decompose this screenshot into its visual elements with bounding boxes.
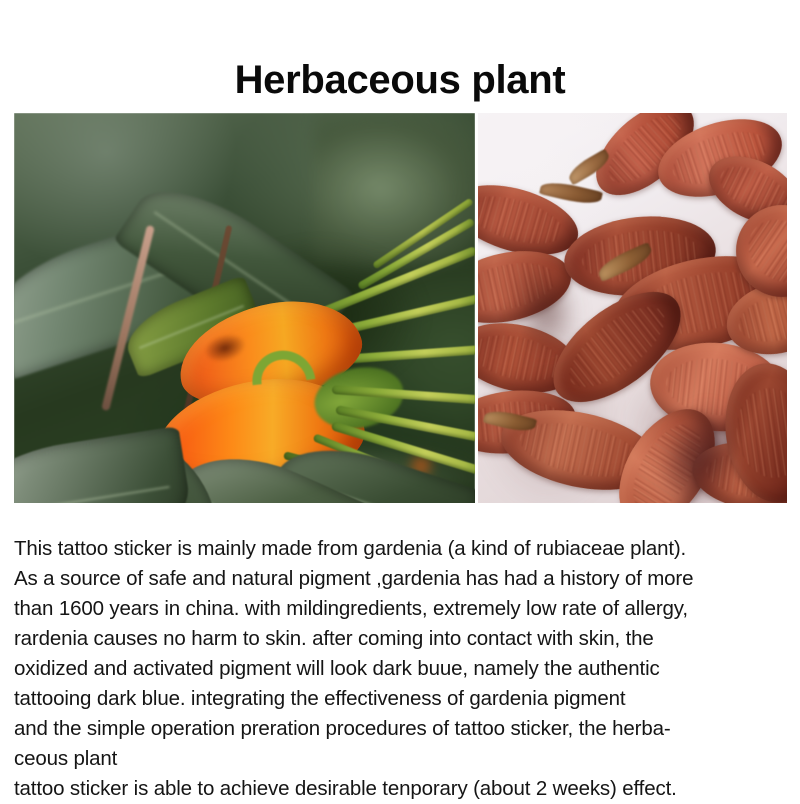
product-image-gallery bbox=[14, 113, 787, 503]
dried-gardenia-fruits-image bbox=[478, 113, 787, 503]
product-description-page: Herbaceous plant bbox=[0, 0, 800, 800]
product-description-text: This tattoo sticker is mainly made from … bbox=[14, 534, 789, 804]
gardenia-fruit-on-plant-image bbox=[14, 113, 475, 503]
page-title: Herbaceous plant bbox=[0, 57, 800, 103]
